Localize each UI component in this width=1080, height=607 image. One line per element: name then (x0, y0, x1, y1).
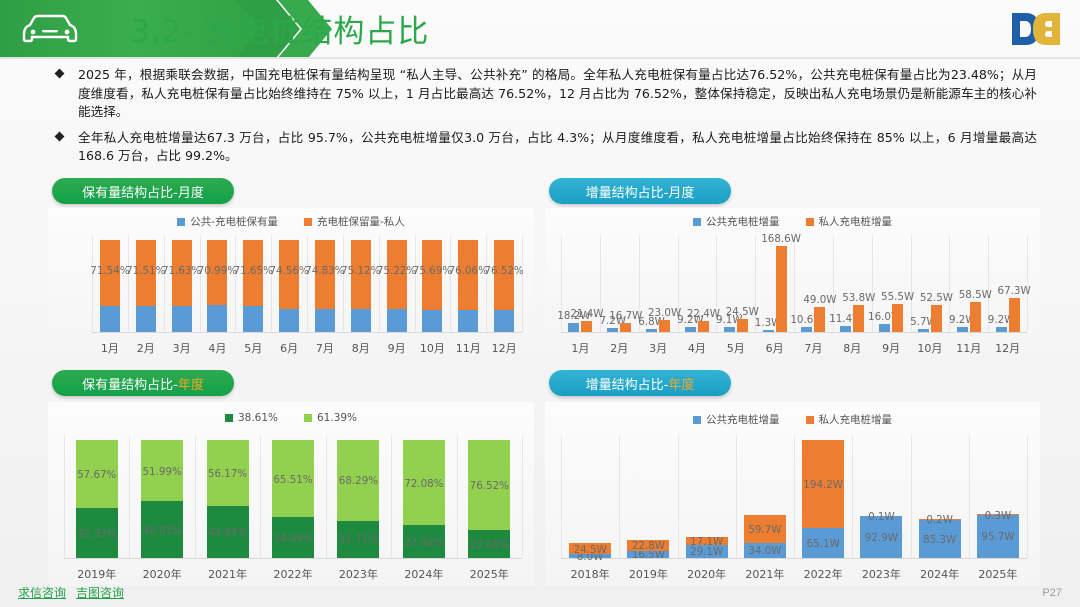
legend-label: 61.39% (317, 412, 357, 424)
gridline (457, 436, 458, 558)
gridline (522, 236, 523, 332)
data-label: 57.67% (69, 469, 125, 481)
legend-item: 私人充电桩增量 (806, 214, 893, 229)
data-label: 31.71% (330, 534, 386, 546)
gridline (164, 236, 165, 332)
bar-segment (494, 310, 514, 332)
x-axis-label: 12月 (980, 340, 1036, 356)
diamond-bullet-icon (55, 131, 65, 141)
gridline (415, 236, 416, 332)
data-label: 71.63% (162, 265, 202, 277)
x-axis-label: 2023年 (330, 566, 386, 582)
data-label: 51.99% (134, 466, 190, 478)
data-label: 0.1W (853, 511, 909, 523)
data-label: 43.83% (200, 527, 256, 539)
header-divider (0, 57, 1080, 59)
legend-stock-yearly: 38.61%61.39% (48, 412, 534, 424)
legend-swatch-icon (693, 416, 701, 424)
data-label: 17.1W (679, 536, 735, 548)
data-label: 0.2W (912, 514, 968, 526)
bar-segment (100, 306, 120, 332)
plot-area-stock-yearly: 42.33%57.67%2019年48.01%51.99%2020年43.83%… (58, 436, 528, 584)
gridline (379, 236, 380, 332)
gridline (561, 436, 562, 558)
chart-incr-monthly: 公共充电桩增量私人充电桩增量 18.2W21.4W1月7.2W16.7W2月6.… (545, 208, 1040, 360)
x-axis-label: 2022年 (795, 566, 851, 582)
gridline (200, 236, 201, 332)
legend-label: 公共充电桩增量 (706, 214, 780, 229)
data-label: 74.83% (305, 265, 345, 277)
gridline (64, 436, 65, 558)
footer-link-2[interactable]: 吉图咨询 (76, 586, 124, 600)
bar-segment (422, 310, 442, 332)
data-label: 168.6W (757, 233, 805, 245)
x-axis-label: 2023年 (853, 566, 909, 582)
data-label: 42.33% (69, 528, 125, 540)
gridline (450, 236, 451, 332)
bar-segment (315, 309, 335, 332)
data-label: 71.65% (233, 265, 273, 277)
panel-title-incr-monthly: 增量结构占比-月度 (549, 178, 731, 204)
legend-label: 私人充电桩增量 (819, 214, 893, 229)
panel-title-stock-yearly: 保有量结构占比-年度 (52, 370, 234, 396)
bar-segment (387, 309, 407, 332)
legend-swatch-icon (304, 218, 312, 226)
page-number: P27 (1042, 587, 1062, 599)
legend-swatch-icon (693, 218, 701, 226)
x-axis-label: 2022年 (265, 566, 321, 582)
gridline (92, 236, 93, 332)
data-label: 71.54% (90, 265, 130, 277)
gridline (128, 236, 129, 332)
gridline (129, 436, 130, 558)
legend-incr-monthly: 公共充电桩增量私人充电桩增量 (545, 214, 1040, 229)
gridline (326, 436, 327, 558)
data-label: 70.99% (197, 265, 237, 277)
bar (646, 329, 657, 332)
data-label: 75.12% (341, 265, 381, 277)
bar (918, 329, 929, 332)
x-axis-label: 12月 (476, 340, 532, 356)
data-label: 71.51% (126, 265, 166, 277)
legend-item: 公共-充电桩保有量 (177, 214, 278, 229)
data-label: 0.3W (970, 510, 1026, 522)
legend-item: 私人充电桩增量 (806, 412, 893, 427)
legend-item: 公共充电桩增量 (693, 412, 780, 427)
legend-item: 61.39% (304, 412, 357, 424)
bullet-list: 2025 年，根据乘联会数据，中国充电桩保有量结构呈现 “私人主导、公共补充” … (52, 66, 1037, 173)
legend-item: 充电桩保留量-私人 (304, 214, 405, 229)
bar-segment (172, 306, 192, 332)
gridline (522, 436, 523, 558)
data-label: 76.52% (484, 265, 524, 277)
bar (568, 323, 579, 332)
x-axis-label: 2020年 (134, 566, 190, 582)
data-label: 34.49% (265, 533, 321, 545)
panel-title-stock-monthly: 保有量结构占比-月度 (52, 178, 234, 204)
data-label: 76.52% (461, 480, 517, 492)
legend-stock-monthly: 公共-充电桩保有量充电桩保留量-私人 (48, 214, 534, 229)
panel-stock-yearly: 保有量结构占比-年度 38.61%61.39% 42.33%57.67%2019… (48, 370, 534, 586)
chart-stock-yearly: 38.61%61.39% 42.33%57.67%2019年48.01%51.9… (48, 402, 534, 586)
legend-swatch-icon (225, 414, 233, 422)
data-label: 74.56% (269, 265, 309, 277)
bar (607, 328, 618, 332)
x-axis-label: 2018年 (562, 566, 618, 582)
footer-link-1[interactable]: 求信咨询 (18, 586, 66, 600)
legend-label: 充电桩保留量-私人 (317, 214, 405, 229)
gridline (195, 436, 196, 558)
page-title: 3.2- 充电桩结构占比 (130, 6, 429, 51)
bar-segment (279, 309, 299, 332)
legend-label: 公共-充电桩保有量 (190, 214, 278, 229)
bar-segment (458, 310, 478, 332)
bar (1009, 298, 1020, 332)
legend-label: 38.61% (238, 412, 278, 424)
data-label: 75.69% (412, 265, 452, 277)
data-label: 59.7W (737, 524, 793, 536)
legend-swatch-icon (304, 414, 312, 422)
bar (840, 326, 851, 332)
legend-item: 公共充电桩增量 (693, 214, 780, 229)
gridline (271, 236, 272, 332)
gridline (486, 236, 487, 332)
panel-title-incr-yearly-main: 增量结构占比- (586, 374, 669, 393)
legend-item: 38.61% (225, 412, 278, 424)
data-label: 22.8W (620, 540, 676, 552)
data-label: 95.7W (970, 531, 1026, 543)
x-axis-label: 2024年 (396, 566, 452, 582)
bar (996, 327, 1007, 332)
x-axis-label: 2025年 (461, 566, 517, 582)
bar-segment (136, 306, 156, 332)
legend-incr-yearly: 公共充电桩增量私人充电桩增量 (545, 412, 1040, 427)
bar (801, 327, 812, 332)
data-label: 75.22% (377, 265, 417, 277)
x-axis-label: 2020年 (679, 566, 735, 582)
bar (724, 327, 735, 332)
panel-title-incr-yearly: 增量结构占比-年度 (549, 370, 731, 396)
bullet-item-1: 2025 年，根据乘联会数据，中国充电桩保有量结构呈现 “私人主导、公共补充” … (52, 66, 1037, 122)
x-axis-label: 2019年 (620, 566, 676, 582)
legend-label: 公共充电桩增量 (706, 412, 780, 427)
data-label: 67.3W (990, 285, 1038, 297)
gridline (260, 436, 261, 558)
legend-swatch-icon (806, 416, 814, 424)
diamond-bullet-icon (55, 69, 65, 79)
legend-label: 私人充电桩增量 (819, 412, 893, 427)
bullet-text-2: 全年私人充电桩增量达67.3 万台，占比 95.7%，公共充电桩增量仅3.0 万… (78, 129, 1037, 166)
x-axis-label: 2021年 (737, 566, 793, 582)
bullet-item-2: 全年私人充电桩增量达67.3 万台，占比 95.7%，公共充电桩增量仅3.0 万… (52, 129, 1037, 166)
data-label: 72.08% (396, 478, 452, 490)
plot-area-stock-monthly: 71.54%1月71.51%2月71.63%3月70.99%4月71.65%5月… (58, 236, 528, 358)
panel-title-stock-yearly-main: 保有量结构占比- (82, 374, 178, 393)
x-axis (92, 332, 522, 333)
bar-segment (207, 305, 227, 332)
data-label: 65.51% (265, 474, 321, 486)
bullet-text-1: 2025 年，根据乘联会数据，中国充电桩保有量结构呈现 “私人主导、公共补充” … (78, 66, 1037, 122)
data-label: 34.0W (737, 545, 793, 557)
data-label: 76.06% (448, 265, 488, 277)
slide-header: 3.2- 充电桩结构占比 (0, 0, 1080, 58)
gridline (1027, 436, 1028, 558)
data-label: 48.01% (134, 525, 190, 537)
plot-area-incr-monthly: 18.2W21.4W1月7.2W16.7W2月6.8W23.0W3月9.2W22… (555, 236, 1033, 358)
panel-title-stock-yearly-accent: 年度 (178, 374, 204, 393)
bar (685, 327, 696, 332)
bar-segment (351, 309, 371, 332)
data-label: 29.1W (679, 546, 735, 558)
chart-incr-yearly: 公共充电桩增量私人充电桩增量 8.0W24.5W2018年16.5W22.8W2… (545, 402, 1040, 586)
plot-area-incr-yearly: 8.0W24.5W2018年16.5W22.8W2019年29.1W17.1W2… (555, 436, 1033, 584)
x-axis-label: 2019年 (69, 566, 125, 582)
bar-segment (243, 306, 263, 332)
bar (957, 327, 968, 332)
panel-title-incr-yearly-accent: 年度 (668, 374, 694, 393)
data-label: 56.17% (200, 468, 256, 480)
data-label: 23.48% (461, 539, 517, 551)
slide-root: 3.2- 充电桩结构占比 2025 年，根据乘联会数据，中国充电桩保有量结构呈现… (0, 0, 1080, 607)
x-axis (64, 558, 522, 559)
company-logo-icon (1004, 8, 1066, 50)
chart-stock-monthly: 公共-充电桩保有量充电桩保留量-私人 71.54%1月71.51%2月71.63… (48, 208, 534, 360)
panel-incr-monthly: 增量结构占比-月度 公共充电桩增量私人充电桩增量 18.2W21.4W1月7.2… (545, 178, 1040, 360)
legend-swatch-icon (806, 218, 814, 226)
gridline (307, 236, 308, 332)
panel-stock-monthly: 保有量结构占比-月度 公共-充电桩保有量充电桩保留量-私人 71.54%1月71… (48, 178, 534, 360)
bar (879, 324, 890, 332)
bar (763, 330, 774, 332)
data-label: 92.9W (853, 532, 909, 544)
footer-links[interactable]: 求信咨询吉图咨询 (18, 584, 134, 601)
gridline (736, 436, 737, 558)
data-label: 85.3W (912, 534, 968, 546)
x-axis-label: 2021年 (200, 566, 256, 582)
data-label: 194.2W (795, 479, 851, 491)
data-label: 68.29% (330, 475, 386, 487)
x-axis-label: 2024年 (912, 566, 968, 582)
x-axis-label: 2025年 (970, 566, 1026, 582)
x-axis (561, 332, 1027, 333)
gridline (343, 236, 344, 332)
legend-swatch-icon (177, 218, 185, 226)
data-label: 24.5W (562, 544, 618, 556)
gridline (235, 236, 236, 332)
data-label: 27.92% (396, 537, 452, 549)
car-icon (18, 12, 82, 46)
gridline (391, 436, 392, 558)
data-label: 65.1W (795, 538, 851, 550)
panel-incr-yearly: 增量结构占比-年度 公共充电桩增量私人充电桩增量 8.0W24.5W2018年1… (545, 370, 1040, 586)
